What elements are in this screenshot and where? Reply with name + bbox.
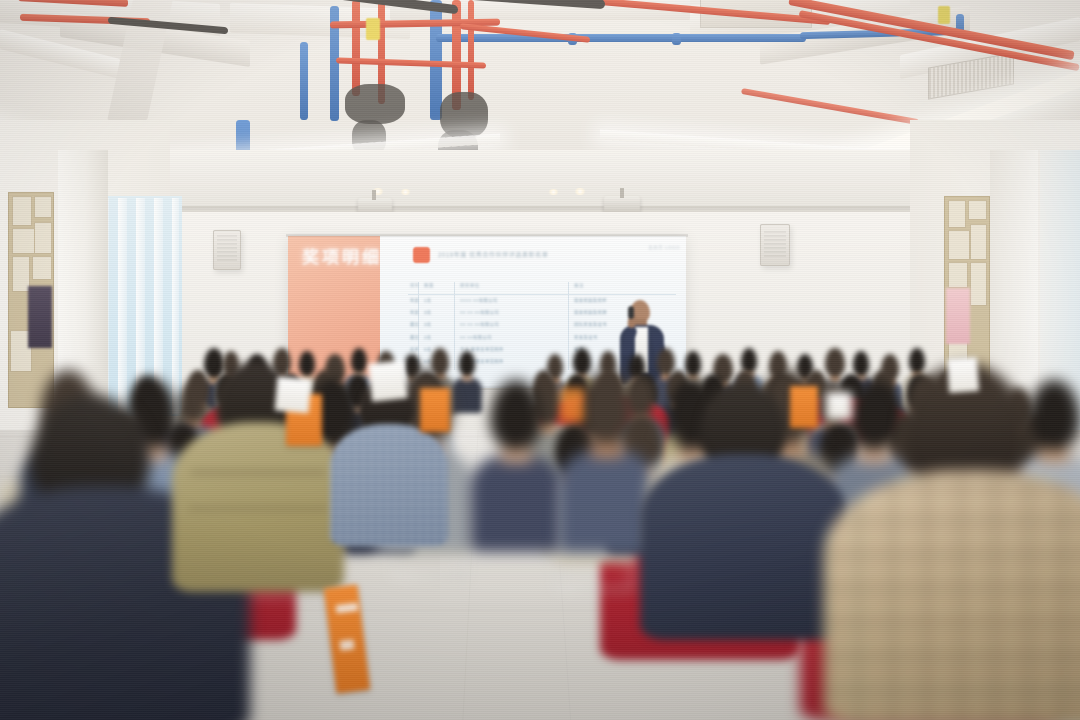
brochure <box>275 377 312 414</box>
attendee-shirt <box>330 424 448 546</box>
brochure <box>947 357 979 393</box>
sprinkler-riser-red <box>468 0 474 100</box>
wall-speaker-right <box>760 224 790 266</box>
slide-badge-icon <box>413 247 430 263</box>
hvac-pipe-blue <box>300 42 308 120</box>
slide-table-cell: ×××× ××有限公司 <box>460 298 570 304</box>
downlight <box>548 189 559 195</box>
downlight <box>574 188 586 195</box>
attendee-head <box>580 370 635 444</box>
brochure <box>826 392 852 420</box>
hvac-pipe-blue <box>436 34 806 42</box>
shelf-cell <box>970 224 987 260</box>
shelf-cell <box>968 200 987 220</box>
equipment-tag <box>938 6 950 24</box>
slide-table-cell: ×× ×× ××有限公司 <box>460 310 570 316</box>
wall-speaker-left <box>213 230 241 270</box>
slide-table-cell: 3名 <box>424 322 454 328</box>
slide-table-cell: 1名 <box>424 298 454 304</box>
shelf-cell <box>970 262 987 306</box>
conference-hall-photo: 奖项明细 2019年度 优秀合作伙伴评选表彰名单 主办方 LOGO 奖项名称数量… <box>0 0 1080 720</box>
coat-seam <box>188 506 328 511</box>
attendee-navy-suit-right <box>640 398 850 638</box>
downlight <box>400 189 411 195</box>
slide-table-cell: ×× ×× ××有限公司 <box>460 322 570 328</box>
shelf-cell <box>34 196 52 218</box>
cable-coil <box>345 84 405 124</box>
slide-table-cell: 数量 <box>424 283 454 289</box>
slide-corner-logo: 主办方 LOGO <box>648 245 680 251</box>
sprinkler-riser-red <box>352 0 360 96</box>
slide-table-cell: 最佳服务团队奖 <box>410 322 418 328</box>
brochure <box>368 360 408 402</box>
projector-mount <box>620 188 624 198</box>
table-divider <box>408 294 676 295</box>
orange-gift-box <box>790 386 818 428</box>
coat-seam <box>190 470 326 475</box>
shelf-cell <box>34 222 52 254</box>
shelf-cell <box>948 200 966 228</box>
shelf-cell <box>948 230 970 260</box>
slide-title: 奖项明细 <box>302 243 382 268</box>
shelf-cell <box>12 196 32 226</box>
projector-mount <box>372 190 376 200</box>
orange-gift-box <box>560 388 584 422</box>
equipment-tag <box>366 18 380 40</box>
attendee-suit-jacket <box>640 454 848 640</box>
screen-frame-top <box>286 234 688 237</box>
slide-table-cell: 3名 <box>424 310 454 316</box>
pipe-valve <box>672 33 681 45</box>
slide-header-note: 2019年度 优秀合作伙伴评选表彰名单 <box>438 250 548 259</box>
slide-table-cell: 备注 <box>574 283 670 289</box>
attendee-torso <box>470 453 562 552</box>
attendee-plaid-coat <box>835 382 1080 720</box>
shelf-cell <box>948 262 968 288</box>
sprinkler-pipe-red <box>741 88 919 125</box>
microphone <box>628 306 634 319</box>
dropped-ceiling <box>160 150 920 212</box>
attendee-head <box>490 380 542 450</box>
shelf-cell <box>32 256 52 280</box>
slide-table-cell: 年度优秀合作伙伴奖 <box>410 310 418 316</box>
gift-bag-logo <box>339 639 354 651</box>
slide-table-cell: 年度卓越贡献奖 <box>410 298 418 304</box>
slide-table-cell: 获奖单位 <box>460 283 570 289</box>
slide-table-cell: 奖项名称 <box>410 283 418 289</box>
attendee <box>470 380 562 546</box>
attendee-plaid-overcoat <box>823 470 1080 720</box>
orange-gift-box <box>420 388 450 432</box>
